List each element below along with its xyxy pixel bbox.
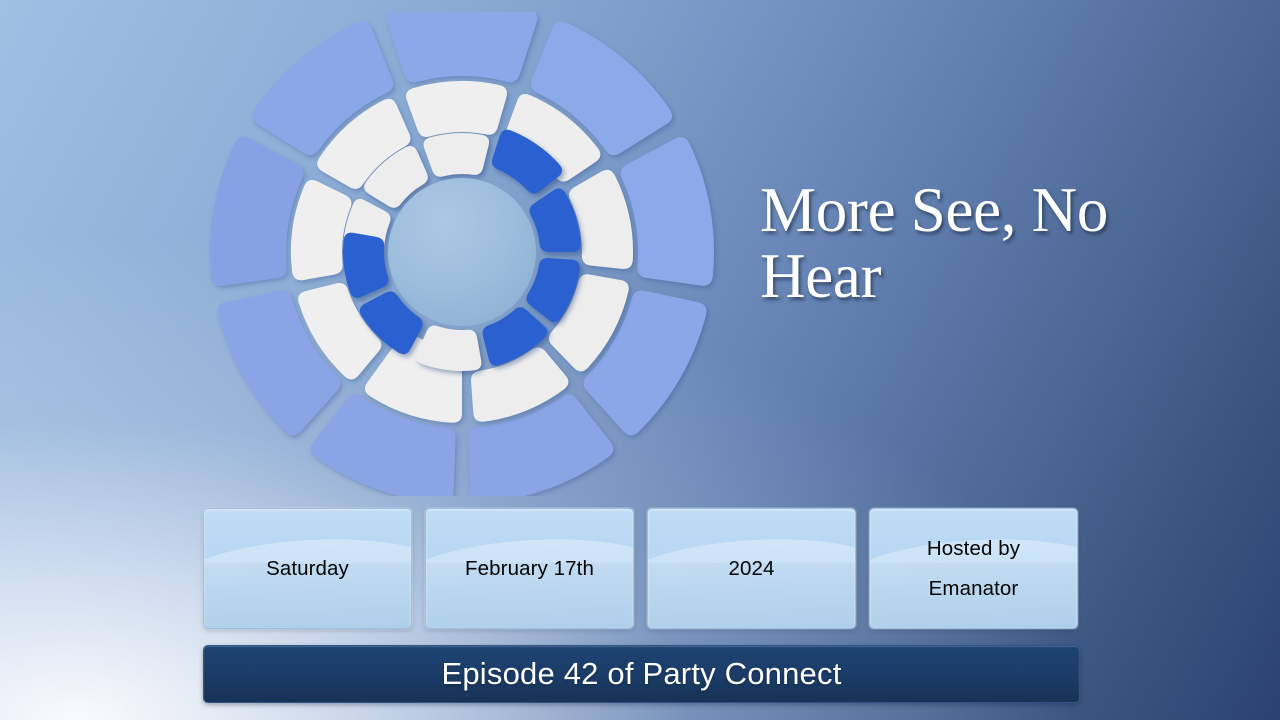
middle-ring-segment-3 (406, 81, 507, 137)
middle-ring-segment-10 (291, 180, 351, 280)
middle-ring-segment-5 (569, 170, 633, 269)
outer-ring-segment-5 (621, 137, 714, 286)
outer-ring-segment-3 (387, 12, 538, 82)
inner-ring-segment-8 (416, 326, 481, 371)
host-card[interactable]: Hosted by Emanator (869, 508, 1078, 629)
episode-banner-label: Episode 42 of Party Connect (441, 656, 841, 692)
inner-ring-segment-3 (424, 133, 489, 177)
inner-ring-segment-10 (343, 233, 388, 298)
host-card-label: Hosted by Emanator (921, 529, 1026, 609)
day-card-label: Saturday (260, 549, 355, 589)
donut-hub (388, 178, 536, 326)
info-card-row: Saturday February 17th 2024 Hosted by Em… (203, 508, 1078, 629)
presentation-slide: More See, No Hear Saturday February 17th… (0, 0, 1280, 720)
year-card[interactable]: 2024 (647, 508, 856, 629)
date-card[interactable]: February 17th (425, 508, 634, 629)
donut-svg (196, 12, 732, 496)
year-card-label: 2024 (722, 549, 780, 589)
outer-ring-segment-10 (210, 137, 303, 286)
donut-graphic (196, 12, 732, 496)
slide-title: More See, No Hear (760, 178, 1230, 309)
episode-banner[interactable]: Episode 42 of Party Connect (203, 645, 1080, 703)
day-card[interactable]: Saturday (203, 508, 412, 629)
date-card-label: February 17th (459, 549, 600, 589)
